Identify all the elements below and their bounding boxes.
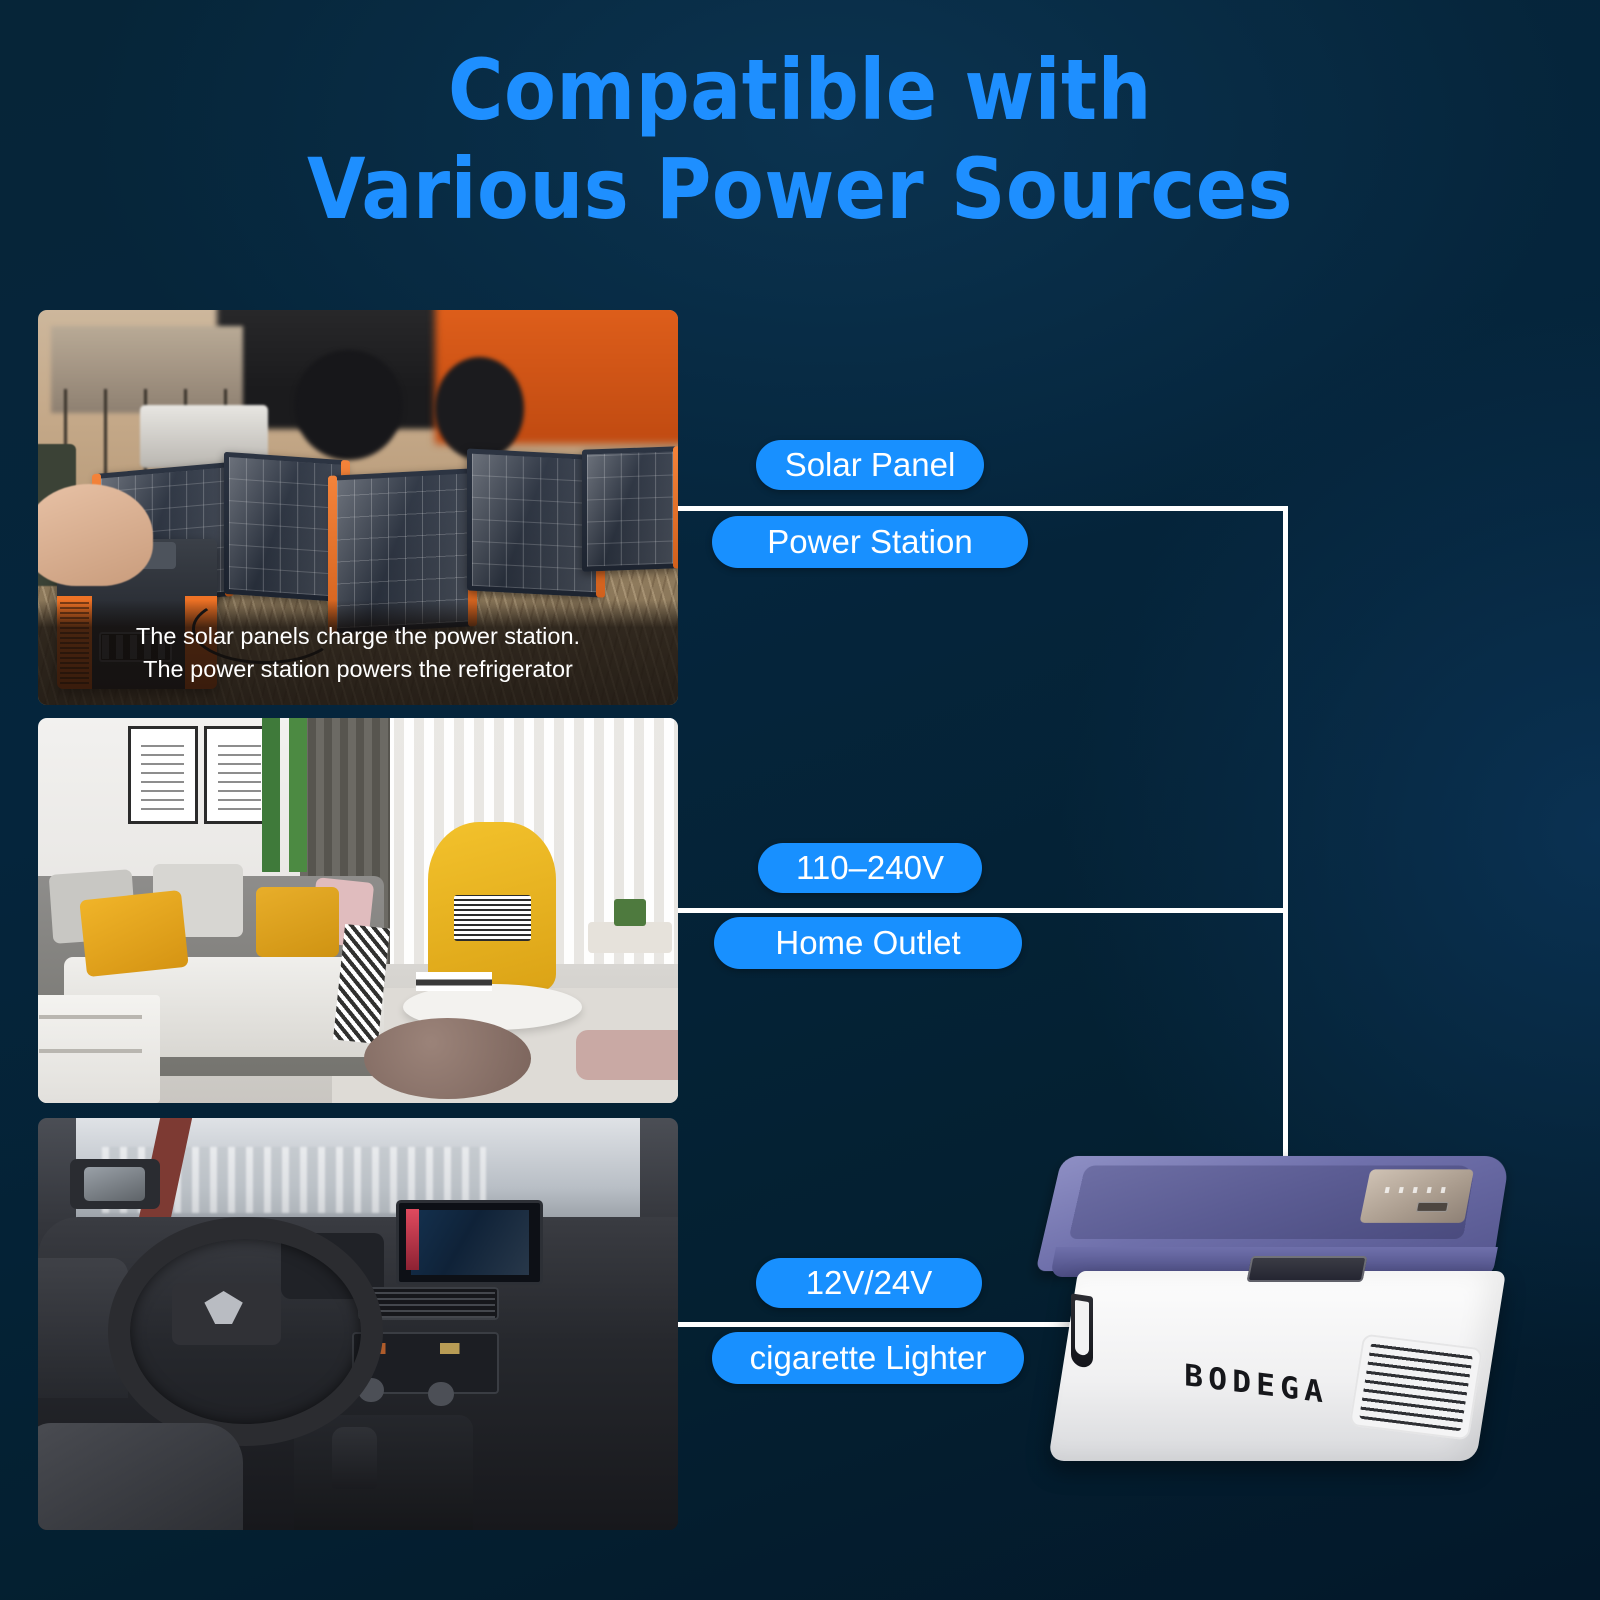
fridge-control-panel	[1359, 1169, 1473, 1222]
label-home-outlet[interactable]: Home Outlet	[714, 917, 1022, 969]
label-power-station[interactable]: Power Station	[712, 516, 1028, 568]
fridge-side-carry-handle	[1071, 1293, 1093, 1368]
page-title: Compatible with Various Power Sources	[0, 46, 1600, 234]
poster-canvas: Compatible with Various Power Sources	[0, 0, 1600, 1600]
photo-caption: The solar panels charge the power statio…	[38, 600, 678, 705]
fridge-vent-grille	[1349, 1334, 1483, 1441]
photo-solar-panel-campsite: The solar panels charge the power statio…	[38, 310, 678, 705]
fridge-latch-handle	[1246, 1256, 1367, 1282]
title-line-1: Compatible with	[0, 46, 1600, 135]
caption-line-1: The solar panels charge the power statio…	[136, 621, 580, 651]
connector-line-solar-horizontal	[678, 506, 1288, 511]
photo-car-interior	[38, 1118, 678, 1530]
label-voltage-ac[interactable]: 110–240V	[758, 843, 982, 893]
connector-line-outlet-horizontal	[678, 908, 1288, 913]
car-interior-scene-art	[38, 1118, 678, 1530]
label-cigarette-lighter[interactable]: cigarette Lighter	[712, 1332, 1024, 1384]
title-line-2: Various Power Sources	[0, 145, 1600, 234]
caption-line-2: The power station powers the refrigerato…	[143, 654, 573, 684]
label-voltage-dc[interactable]: 12V/24V	[756, 1258, 982, 1308]
living-room-scene-art	[38, 718, 678, 1103]
connector-line-trunk-vertical	[1283, 506, 1288, 1192]
label-solar-panel[interactable]: Solar Panel	[756, 440, 984, 490]
product-portable-refrigerator: BODEGA	[1035, 1155, 1535, 1475]
photo-living-room	[38, 718, 678, 1103]
